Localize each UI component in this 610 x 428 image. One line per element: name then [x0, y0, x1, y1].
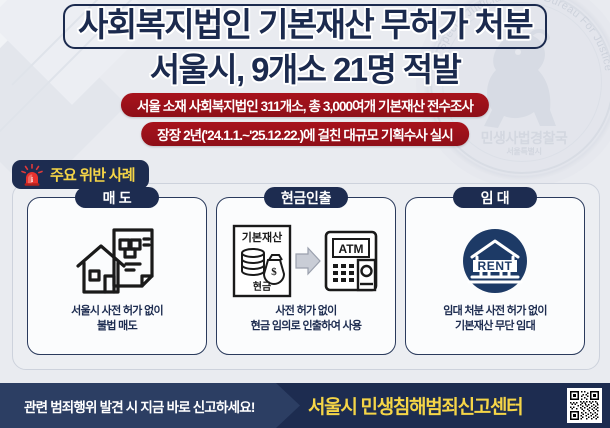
qr-code-icon[interactable]	[567, 388, 602, 423]
section-tag-label: 주요 위반 사례	[50, 164, 135, 185]
cash-withdrawal-icon-wrap: 기본재산 $ 현금	[232, 220, 380, 302]
violation-cards: 매 도	[13, 184, 599, 369]
headline-line1: 사회복지법인 기본재산 무허가 처분	[78, 7, 532, 44]
siren-icon: i	[20, 164, 44, 186]
headline-line1-box: 사회복지법인 기본재산 무허가 처분	[63, 4, 547, 49]
footer-left-text: 관련 범죄행위 발견 시 지금 바로 신고하세요!	[24, 383, 255, 428]
rent-building-icon: RENT	[458, 224, 532, 298]
house-document-icon-wrap	[74, 220, 160, 302]
svg-text:i: i	[31, 175, 33, 184]
section-tag: i 주요 위반 사례	[12, 160, 149, 189]
violation-card-cash: 현금인출 기본재산 $	[216, 197, 396, 355]
red-banner-2: 장장 2년('24.1.1.~'25.12.22.)에 걸친 대규모 기획수사 …	[141, 122, 469, 146]
card-caption-cash: 사전 허가 없이 현금 임의로 인출하여 사용	[251, 304, 362, 334]
rent-building-icon-wrap: RENT	[458, 220, 532, 302]
card-caption-cash-line2: 현금 임의로 인출하여 사용	[251, 319, 362, 334]
card-caption-sale: 서울시 사전 허가 없이 불법 매도	[71, 304, 163, 334]
card-caption-rent-line1: 임대 처분 사전 허가 없이	[443, 304, 547, 319]
card-caption-sale-line2: 불법 매도	[71, 319, 163, 334]
card-caption-rent: 임대 처분 사전 허가 없이 기본재산 무단 임대	[443, 304, 547, 334]
headline-block: 사회복지법인 기본재산 무허가 처분 서울시, 9개소 21명 적발	[0, 4, 610, 89]
rent-label: RENT	[477, 259, 512, 273]
card-caption-rent-line2: 기본재산 무단 임대	[443, 319, 547, 334]
emblem-sub-text: 서울특별시	[432, 146, 610, 157]
cash-box-title: 기본재산	[242, 230, 282, 244]
svg-text:$: $	[271, 266, 277, 278]
violation-card-sale: 매 도	[27, 197, 207, 355]
poster-root: Special Judicial Police Bureau For Justi…	[0, 0, 610, 428]
cash-withdrawal-icon: 기본재산 $ 현금	[232, 224, 380, 298]
card-pill-sale: 매 도	[75, 187, 159, 208]
red-banner-1: 서울 소재 사회복지법인 311개소, 총 3,000여개 기본재산 전수조사	[121, 93, 489, 117]
atm-label: ATM	[338, 242, 363, 256]
house-document-icon	[74, 224, 160, 298]
footer-right-text: 서울시 민생침해범죄신고센터	[308, 383, 522, 428]
card-pill-cash: 현금인출	[264, 187, 348, 208]
red-banner-1-text: 서울 소재 사회복지법인 311개소, 총 3,000여개 기본재산 전수조사	[137, 95, 473, 115]
violations-panel: 매 도	[12, 183, 600, 370]
headline-line2: 서울시, 9개소 21명 적발	[0, 51, 610, 89]
cash-box-bottom: 현금	[253, 280, 271, 293]
card-caption-sale-line1: 서울시 사전 허가 없이	[71, 304, 163, 319]
violation-card-rent: 임 대	[405, 197, 585, 355]
card-caption-cash-line1: 사전 허가 없이	[251, 304, 362, 319]
red-banner-2-text: 장장 2년('24.1.1.~'25.12.22.)에 걸친 대규모 기획수사 …	[157, 124, 453, 144]
qr-code-svg	[569, 390, 600, 421]
card-pill-rent: 임 대	[453, 187, 537, 208]
footer-bar: 관련 범죄행위 발견 시 지금 바로 신고하세요! 서울시 민생침해범죄신고센터	[0, 383, 610, 428]
